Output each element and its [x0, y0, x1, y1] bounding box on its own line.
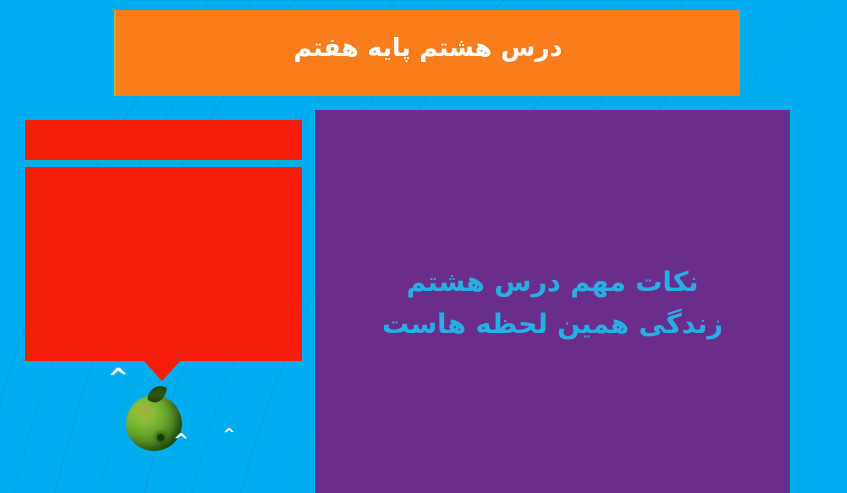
page-title: درس هشتم پایه هفتم: [294, 33, 563, 63]
red-header-bar: [25, 120, 302, 160]
presentation-slide: درس هشتم پایه هفتم ^ ^ ^ نکات مهم درس هش…: [0, 0, 847, 493]
sparkle-chevron-icon: ^: [107, 364, 129, 390]
slide-title-banner: درس هشتم پایه هفتم: [116, 10, 740, 96]
content-line-1: نکات مهم درس هشتم: [406, 262, 698, 304]
red-image-bubble: ^ ^ ^: [25, 167, 302, 361]
apple-highlight: [137, 405, 154, 417]
title-banner-accent-stripe: [114, 10, 116, 96]
content-panel: نکات مهم درس هشتم زندگی همین لحظه هاست: [315, 110, 790, 493]
sparkle-chevron-icon: ^: [173, 432, 190, 452]
sparkle-chevron-icon: ^: [223, 427, 236, 442]
speech-bubble-tail: [143, 360, 181, 381]
content-line-2: زندگی همین لحظه هاست: [382, 304, 723, 346]
